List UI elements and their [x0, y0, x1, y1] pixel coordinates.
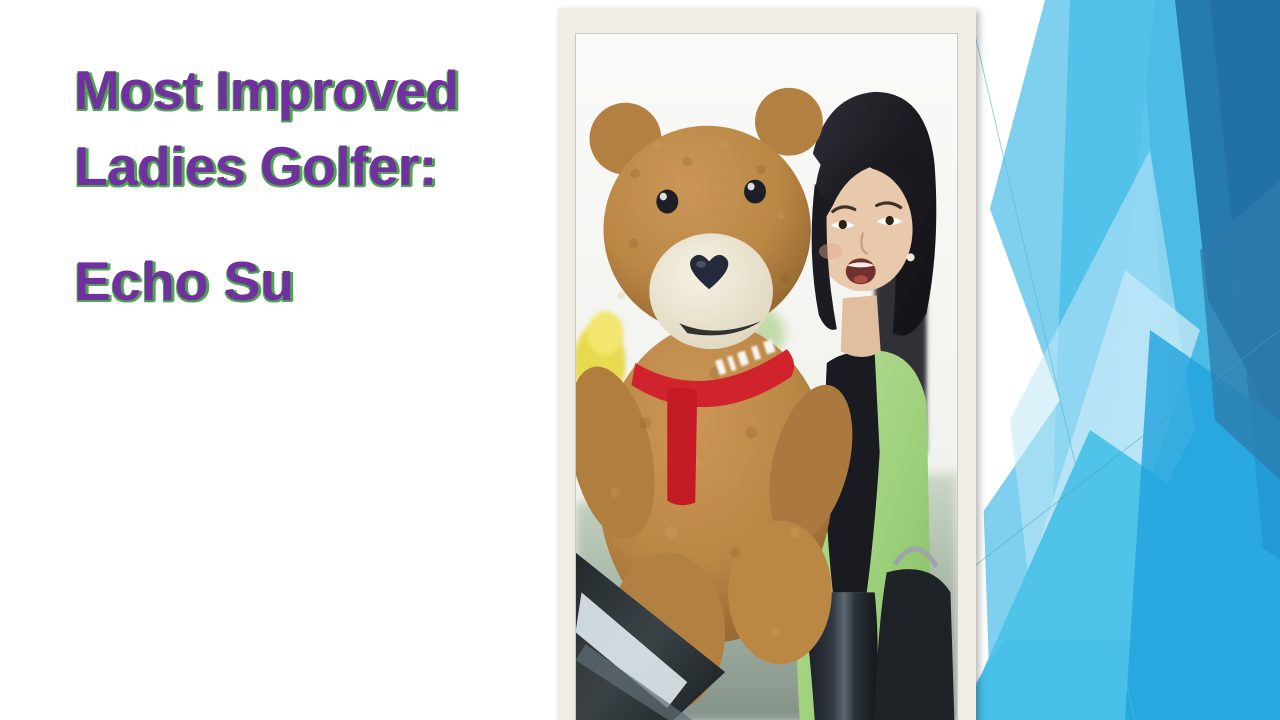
- slide-title-block: Most Improved Ladies Golfer: Echo Su: [74, 52, 544, 314]
- award-recipient-name: Echo Su: [74, 248, 544, 314]
- decorative-background-pattern: [950, 0, 1280, 720]
- title-spacer: [74, 204, 544, 248]
- page-title-line-2: Ladies Golfer:: [74, 128, 544, 204]
- photo-wash: [576, 34, 957, 720]
- photo-image: [575, 33, 958, 720]
- photo-frame: [558, 8, 976, 720]
- presentation-slide: Most Improved Ladies Golfer: Echo Su: [0, 0, 1280, 720]
- page-title-line-1: Most Improved: [74, 52, 544, 128]
